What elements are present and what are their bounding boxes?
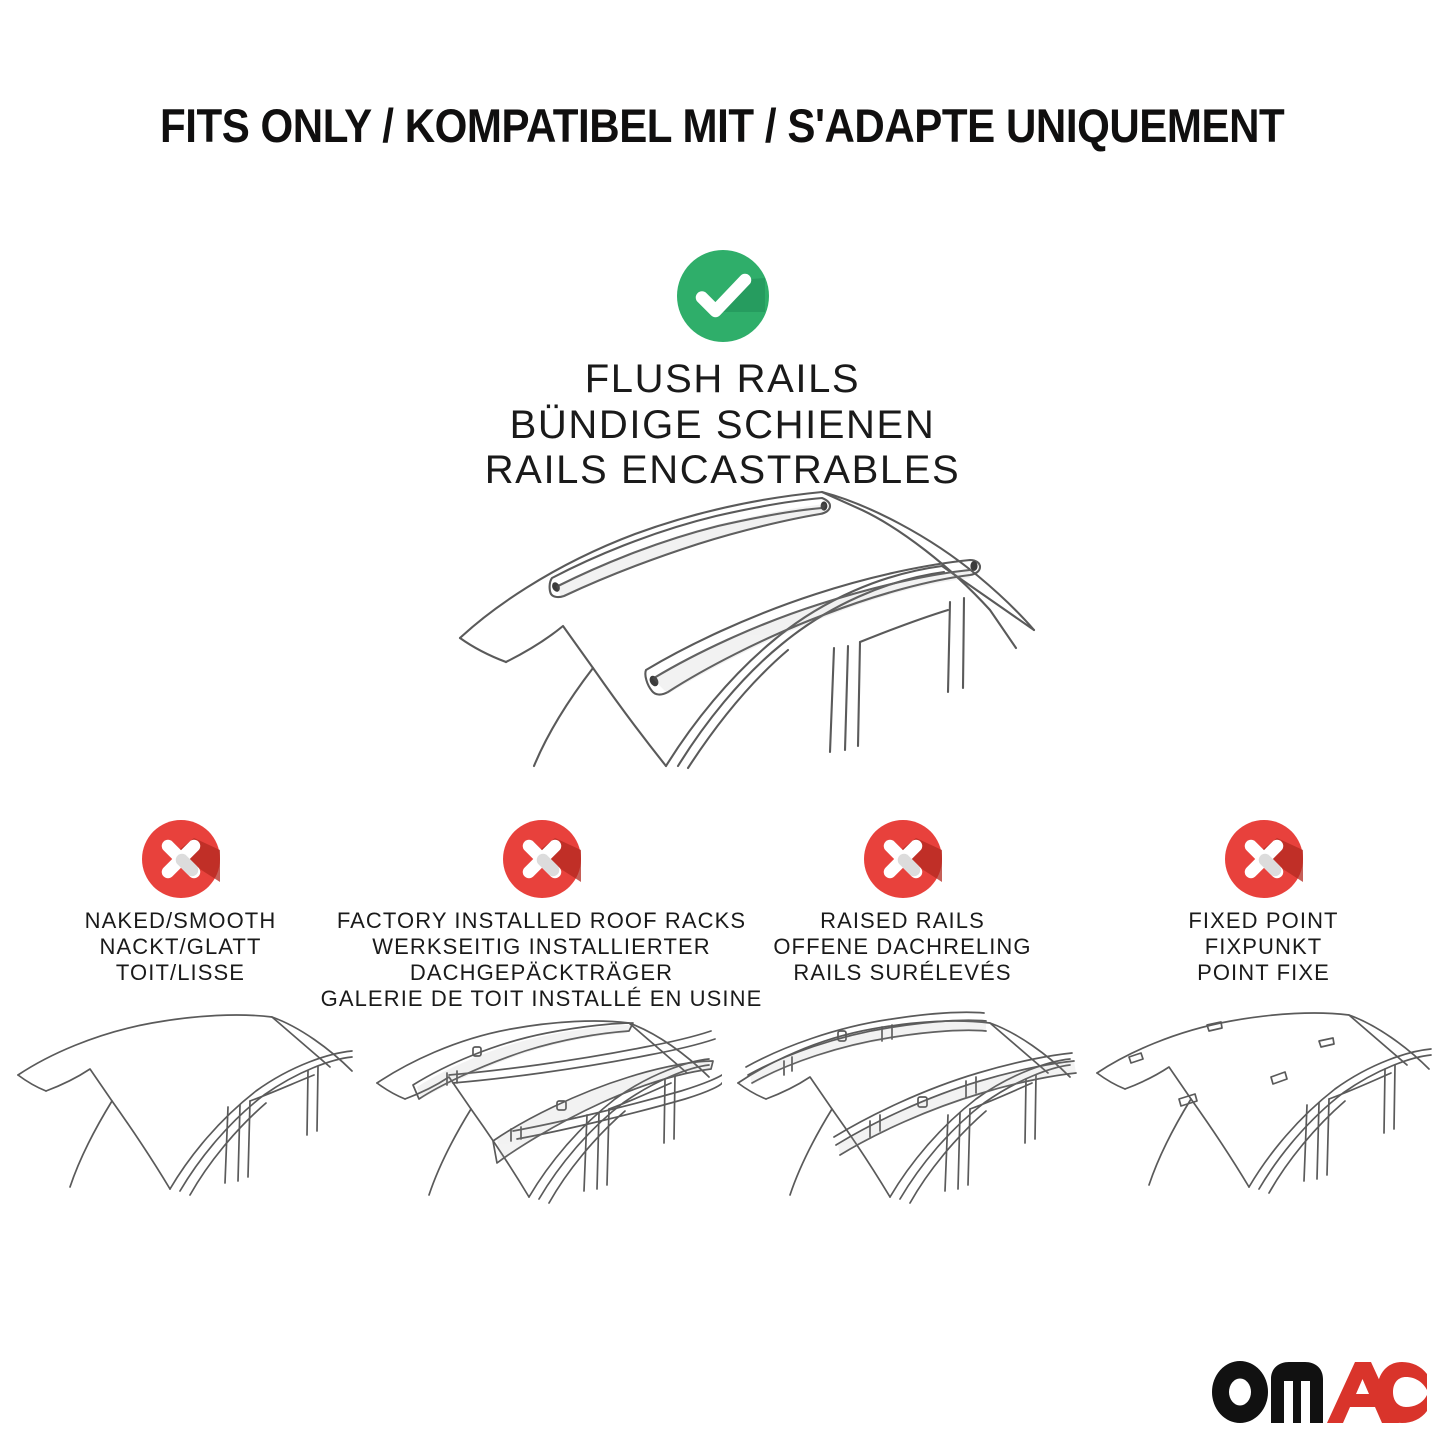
naked-smooth-roof-illustration [0,1005,361,1240]
option-label-en: RAISED RAILS [773,908,1031,934]
option-raised-rails: RAISED RAILS OFFENE DACHRELING RAILS SUR… [722,820,1083,986]
check-circle-icon [677,250,769,342]
cross-circle-icon [142,820,220,898]
option-label-fr: TOIT/LISSE [85,960,277,986]
option-label-de-1: WERKSEITIG INSTALLIERTER [321,934,763,960]
option-label-group: RAISED RAILS OFFENE DACHRELING RAILS SUR… [773,908,1031,986]
option-label-de: NACKT/GLATT [85,934,277,960]
cross-circle-icon [1225,820,1303,898]
option-label-de-2: DACHGEPÄCKTRÄGER [321,960,763,986]
omac-logo [1209,1361,1427,1423]
option-label-en: FACTORY INSTALLED ROOF RACKS [321,908,763,934]
flush-rails-roof-illustration [430,470,1050,770]
compatible-section: FLUSH RAILS BÜNDIGE SCHIENEN RAILS ENCAS… [0,250,1445,494]
option-label-group: FACTORY INSTALLED ROOF RACKS WERKSEITIG … [321,908,763,1012]
option-label-de: FIXPUNKT [1188,934,1338,960]
cross-circle-icon [864,820,942,898]
option-label-group: NAKED/SMOOTH NACKT/GLATT TOIT/LISSE [85,908,277,986]
factory-roof-racks-illustration [361,1005,722,1240]
option-label-fr: RAILS SURÉLEVÉS [773,960,1031,986]
compatible-label-de: BÜNDIGE SCHIENEN [0,403,1445,449]
option-label-de: OFFENE DACHRELING [773,934,1031,960]
option-label-en: NAKED/SMOOTH [85,908,277,934]
option-label-en: FIXED POINT [1188,908,1338,934]
compatible-label-en: FLUSH RAILS [0,357,1445,403]
option-naked-smooth: NAKED/SMOOTH NACKT/GLATT TOIT/LISSE [0,820,361,986]
fixed-point-roof-illustration [1083,1005,1444,1240]
cross-circle-icon [503,820,581,898]
option-label-fr: POINT FIXE [1188,960,1338,986]
option-factory-roof-racks: FACTORY INSTALLED ROOF RACKS WERKSEITIG … [361,820,722,1012]
option-label-group: FIXED POINT FIXPUNKT POINT FIXE [1188,908,1338,986]
option-fixed-point: FIXED POINT FIXPUNKT POINT FIXE [1083,820,1444,986]
incompatible-options-row: NAKED/SMOOTH NACKT/GLATT TOIT/LISSE FACT… [0,820,1445,1012]
roof-illustrations-row [0,1005,1445,1240]
header-bar: FITS ONLY / KOMPATIBEL MIT / S'ADAPTE UN… [0,98,1445,153]
page-title: FITS ONLY / KOMPATIBEL MIT / S'ADAPTE UN… [160,98,1284,153]
raised-rails-roof-illustration [722,1005,1083,1240]
